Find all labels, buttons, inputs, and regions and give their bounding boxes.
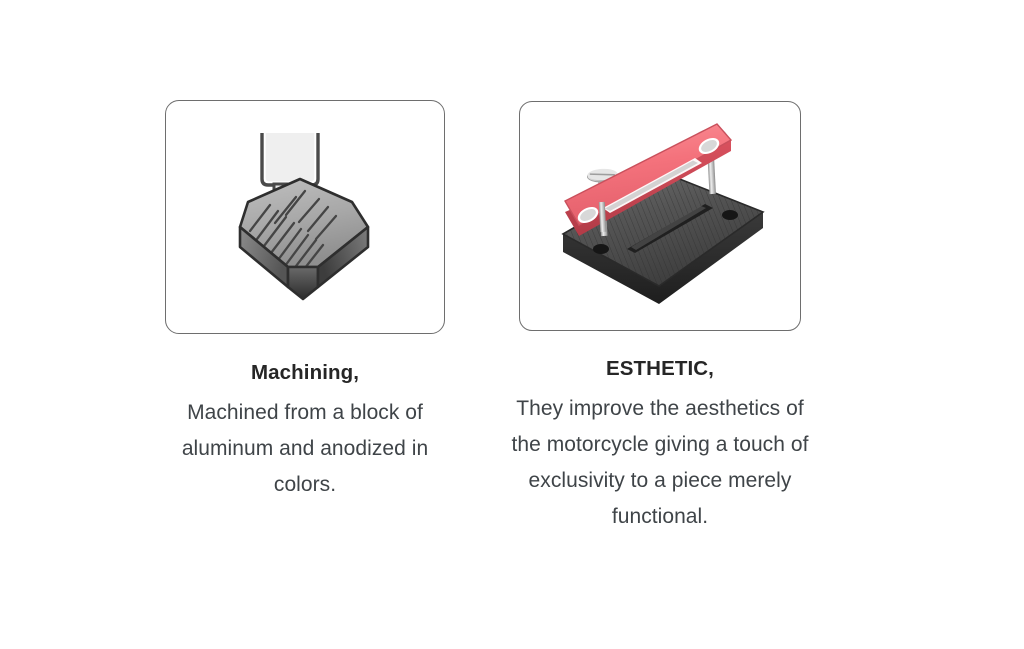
machining-description: Machined from a block of aluminum and an…	[155, 395, 455, 503]
machining-icon-card[interactable]	[165, 100, 445, 334]
feature-cards-page: Machining, Machined from a block of alum…	[0, 0, 1024, 649]
esthetic-icon-card[interactable]	[519, 101, 801, 331]
esthetic-caption: ESTHETIC, They improve the aesthetics of…	[510, 356, 810, 535]
esthetic-title: ESTHETIC,	[510, 356, 810, 382]
features-row: Machining, Machined from a block of alum…	[0, 0, 1024, 649]
feature-esthetic[interactable]: ESTHETIC, They improve the aesthetics of…	[519, 101, 801, 535]
machining-title: Machining,	[155, 360, 455, 386]
machining-caption: Machining, Machined from a block of alum…	[155, 360, 455, 503]
cnc-milling-icon	[166, 101, 444, 333]
anodized-bracket-icon	[520, 102, 800, 330]
feature-machining[interactable]: Machining, Machined from a block of alum…	[165, 100, 445, 503]
esthetic-description: They improve the aesthetics of the motor…	[510, 391, 810, 535]
